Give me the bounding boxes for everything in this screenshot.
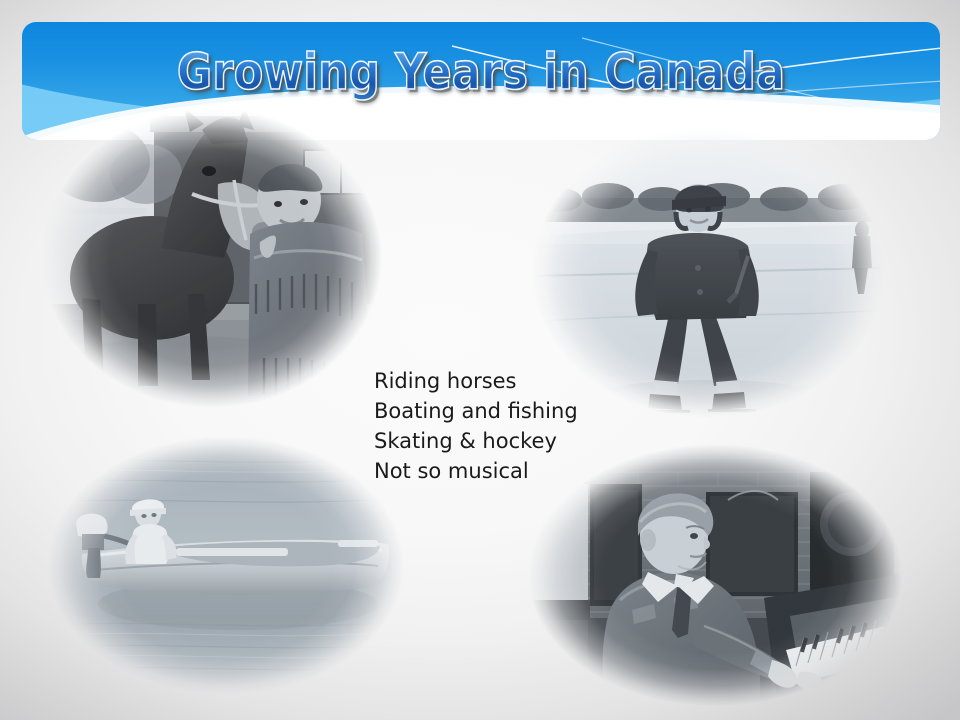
slide-canvas: Growing Years in Canada Growing Years in…: [0, 0, 960, 720]
motorboat-on-water-image: [48, 436, 404, 694]
motorboat-on-water-photo: [48, 436, 404, 694]
bullet-item-3: Skating & hockey: [374, 426, 634, 456]
bullet-text-block: Riding horses Boating and fishing Skatin…: [374, 366, 634, 486]
bullet-item-4: Not so musical: [374, 456, 634, 486]
bullet-item-1: Riding horses: [374, 366, 634, 396]
bullet-item-2: Boating and fishing: [374, 396, 634, 426]
boy-with-horse-photo: [42, 108, 382, 408]
boy-with-horse-image: [42, 108, 382, 408]
